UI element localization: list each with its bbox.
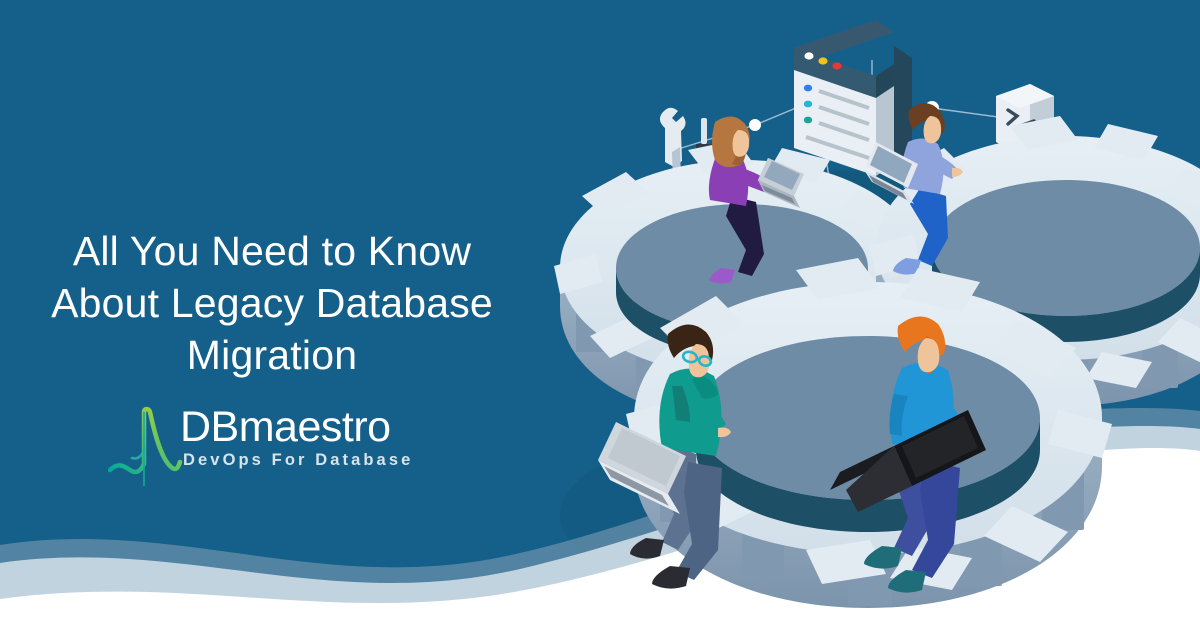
promo-banner: All You Need to Know About Legacy Databa… (0, 0, 1200, 627)
brand-tagline: DevOps For Database (180, 450, 442, 470)
network-node-1 (749, 119, 761, 131)
window-dot-yellow (818, 57, 827, 64)
window-bullet-blue (804, 85, 812, 92)
window-dot-red (832, 62, 841, 69)
dbmaestro-logo[interactable]: DBmaestro DevOps For Database (108, 398, 438, 490)
window-bullet-cyan (804, 101, 812, 108)
window-dot-white (804, 52, 813, 59)
isometric-gears-illustration (520, 0, 1200, 627)
brand-name: DBmaestro (180, 404, 442, 450)
headline-line-2: About Legacy Database (22, 277, 522, 329)
page-title: All You Need to Know About Legacy Databa… (22, 225, 522, 381)
dbmaestro-logo-text: DBmaestro DevOps For Database (180, 404, 442, 470)
shoe-back (630, 538, 664, 559)
shoe-front (652, 566, 690, 589)
window-bullet-teal (804, 117, 812, 124)
headline-line-1: All You Need to Know (22, 225, 522, 277)
dbmaestro-spike-mark-icon (108, 400, 186, 488)
headline-line-3: Migration (22, 329, 522, 381)
